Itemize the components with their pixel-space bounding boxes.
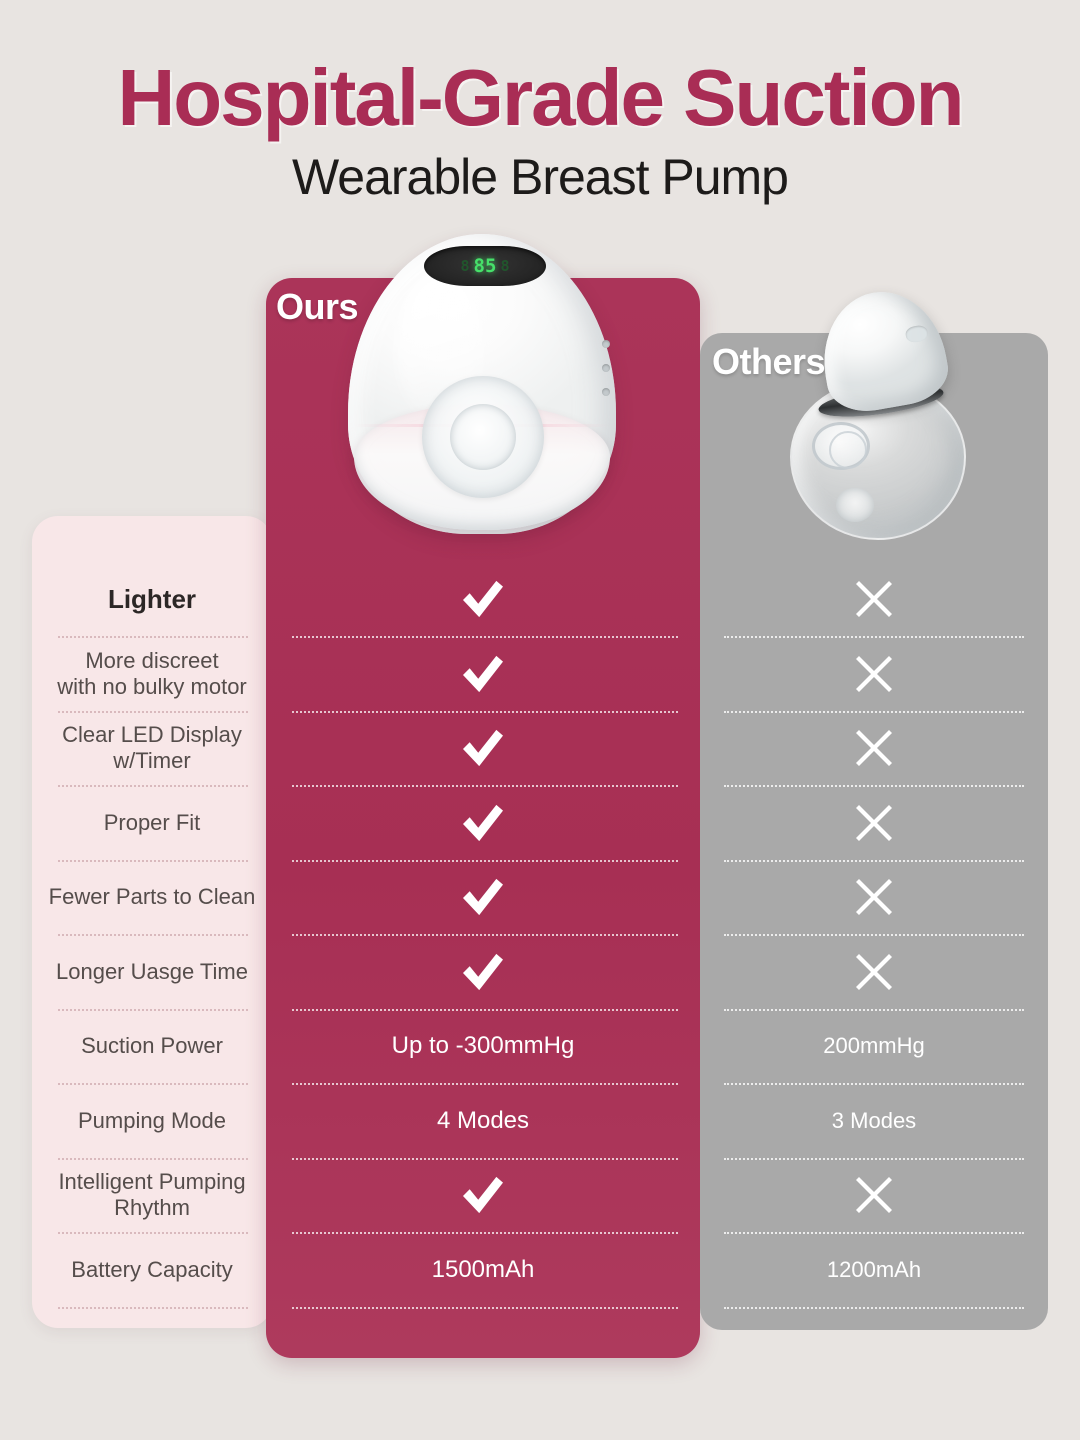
ours-value-1: [266, 637, 700, 711]
row-separator: [724, 1307, 1024, 1309]
table-row: Longer Uasge Time: [0, 935, 1080, 1009]
check-icon: [460, 654, 506, 694]
x-icon: [854, 952, 894, 992]
feature-label-1: More discreetwith no bulky motor: [32, 637, 272, 711]
feature-label-5: Longer Uasge Time: [32, 935, 272, 1009]
table-row: Intelligent PumpingRhythm: [0, 1158, 1080, 1232]
others-value-0: [700, 562, 1048, 636]
table-row: Lighter: [0, 562, 1080, 636]
others-value-7-text: 3 Modes: [832, 1108, 916, 1134]
feature-label-9: Battery Capacity: [32, 1233, 272, 1307]
row-separator: [58, 1307, 248, 1309]
feature-label-3-text: Proper Fit: [104, 810, 201, 836]
others-pump-nozzle: [812, 422, 870, 470]
feature-label-4: Fewer Parts to Clean: [32, 860, 272, 934]
table-row: Suction PowerUp to -300mmHg200mmHg: [0, 1009, 1080, 1083]
check-icon: [460, 803, 506, 843]
others-product-image: [782, 292, 982, 540]
check-icon: [460, 728, 506, 768]
feature-label-0: Lighter: [32, 562, 272, 636]
ours-pump-buttons: [602, 340, 612, 412]
feature-label-6: Suction Power: [32, 1009, 272, 1083]
ours-value-7-text: 4 Modes: [437, 1107, 529, 1135]
feature-label-5-text: Longer Uasge Time: [56, 959, 248, 985]
table-row: More discreetwith no bulky motor: [0, 637, 1080, 711]
led-right-glyph: 8: [500, 259, 509, 274]
check-icon: [460, 579, 506, 619]
others-value-6: 200mmHg: [700, 1009, 1048, 1083]
others-value-4: [700, 860, 1048, 934]
ours-product-image: 8 85 8: [338, 228, 628, 550]
others-value-2: [700, 711, 1048, 785]
feature-label-8-text: Intelligent PumpingRhythm: [58, 1169, 245, 1221]
table-row: Battery Capacity1500mAh1200mAh: [0, 1233, 1080, 1307]
led-left-glyph: 8: [461, 259, 470, 274]
column-header-ours: Ours: [276, 286, 358, 328]
x-icon: [854, 654, 894, 694]
comparison-infographic: Hospital-Grade Suction Wearable Breast P…: [0, 0, 1080, 1440]
feature-label-4-text: Fewer Parts to Clean: [49, 884, 256, 910]
ours-value-9-text: 1500mAh: [432, 1256, 535, 1284]
x-icon: [854, 877, 894, 917]
others-pump-valve: [836, 488, 874, 522]
feature-label-6-text: Suction Power: [81, 1033, 223, 1059]
row-separator: [292, 1307, 678, 1309]
others-value-9: 1200mAh: [700, 1233, 1048, 1307]
x-icon: [854, 803, 894, 843]
table-row: Fewer Parts to Clean: [0, 860, 1080, 934]
column-header-others: Others: [712, 341, 825, 383]
check-icon: [460, 1175, 506, 1215]
ours-value-4: [266, 860, 700, 934]
others-value-8: [700, 1158, 1048, 1232]
table-row: Pumping Mode4 Modes3 Modes: [0, 1084, 1080, 1158]
others-value-3: [700, 786, 1048, 860]
ours-value-7: 4 Modes: [266, 1084, 700, 1158]
ours-value-3: [266, 786, 700, 860]
feature-label-8: Intelligent PumpingRhythm: [32, 1158, 272, 1232]
ours-value-6-text: Up to -300mmHg: [392, 1032, 575, 1060]
ours-value-6: Up to -300mmHg: [266, 1009, 700, 1083]
x-icon: [854, 579, 894, 619]
ours-pump-flange: [422, 376, 544, 498]
feature-label-7-text: Pumping Mode: [78, 1108, 226, 1134]
check-icon: [460, 877, 506, 917]
led-value: 85: [474, 257, 497, 276]
feature-label-1-text: More discreetwith no bulky motor: [57, 648, 247, 700]
others-value-6-text: 200mmHg: [823, 1033, 924, 1059]
table-row: Proper Fit: [0, 786, 1080, 860]
feature-label-3: Proper Fit: [32, 786, 272, 860]
feature-label-9-text: Battery Capacity: [71, 1257, 232, 1283]
ours-value-0: [266, 562, 700, 636]
others-value-1: [700, 637, 1048, 711]
feature-label-2: Clear LED Displayw/Timer: [32, 711, 272, 785]
check-icon: [460, 952, 506, 992]
ours-pump-led-display: 8 85 8: [424, 246, 546, 286]
feature-label-0-text: Lighter: [108, 584, 196, 615]
others-value-5: [700, 935, 1048, 1009]
ours-value-2: [266, 711, 700, 785]
others-value-9-text: 1200mAh: [827, 1257, 921, 1283]
ours-value-5: [266, 935, 700, 1009]
feature-label-2-text: Clear LED Displayw/Timer: [62, 722, 242, 774]
others-value-7: 3 Modes: [700, 1084, 1048, 1158]
ours-value-9: 1500mAh: [266, 1233, 700, 1307]
table-row: Clear LED Displayw/Timer: [0, 711, 1080, 785]
comparison-table: LighterMore discreetwith no bulky motorC…: [0, 0, 1080, 1440]
x-icon: [854, 1175, 894, 1215]
feature-label-7: Pumping Mode: [32, 1084, 272, 1158]
ours-value-8: [266, 1158, 700, 1232]
x-icon: [854, 728, 894, 768]
